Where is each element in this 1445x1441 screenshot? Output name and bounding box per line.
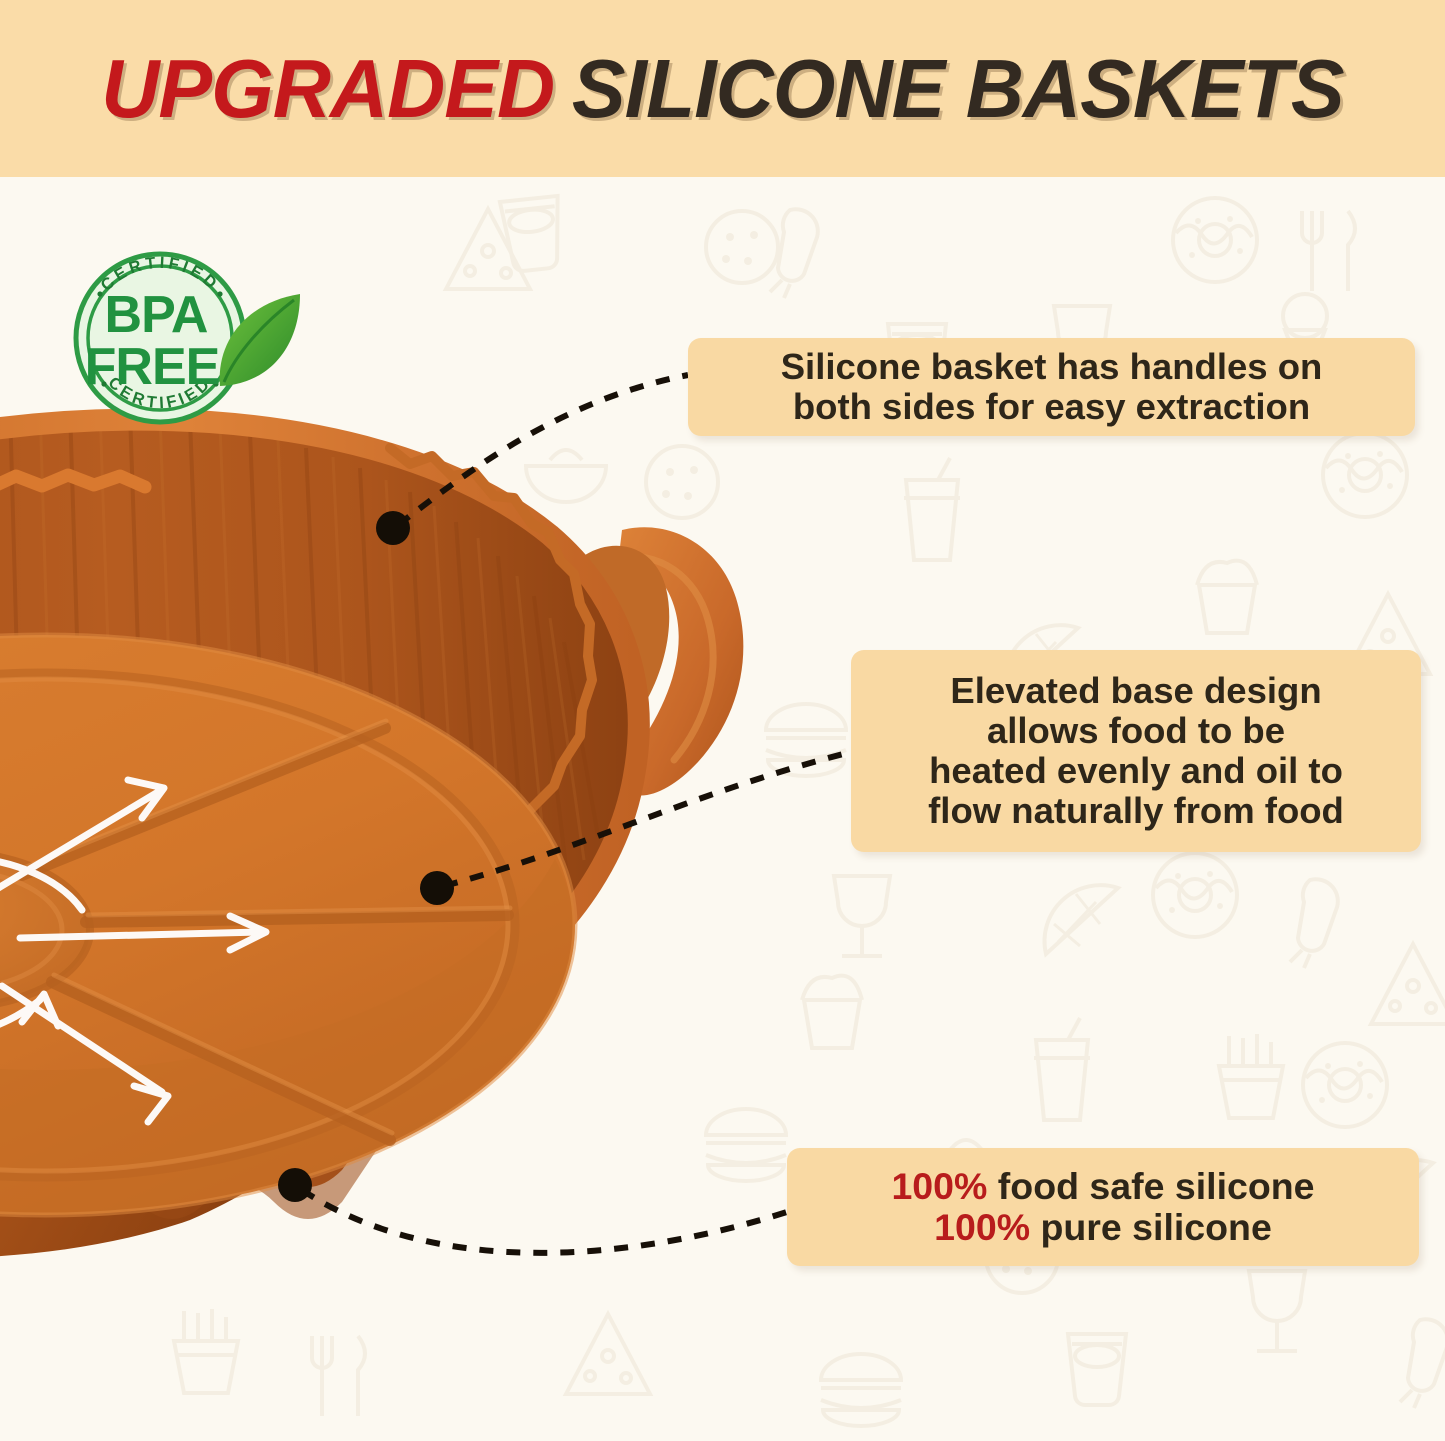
callout-food-safe-line-2: 100% pure silicone <box>891 1207 1314 1248</box>
callout-elevated-base-line-2: allows food to be <box>928 711 1344 751</box>
callout-elevated-base-line-1: Elevated base design <box>928 671 1344 711</box>
title-word-silicone-baskets: SILICONE BASKETS <box>572 42 1344 135</box>
infographic-canvas: CERTIFIED CERTIFIED BPA FREE UPGRADEDSIL… <box>0 0 1445 1441</box>
callout-food-safe-line-1: 100% food safe silicone <box>891 1166 1314 1207</box>
callout-elevated-base-line-3: heated evenly and oil to <box>928 751 1344 791</box>
callout-food-safe: 100% food safe silicone 100% pure silico… <box>787 1148 1419 1266</box>
badge-line-2: FREE <box>85 338 220 396</box>
food-safe-text-2: pure silicone <box>1030 1206 1272 1248</box>
title-word-upgraded: UPGRADED <box>101 42 554 135</box>
silicone-basket-illustration <box>0 350 860 1441</box>
callout-handles-line-2: both sides for easy extraction <box>781 387 1323 427</box>
badge-line-1: BPA <box>105 286 208 344</box>
callout-handles-line-1: Silicone basket has handles on <box>781 347 1323 387</box>
callout-elevated-base: Elevated base design allows food to be h… <box>851 650 1421 852</box>
callout-handles: Silicone basket has handles on both side… <box>688 338 1415 436</box>
page-title: UPGRADEDSILICONE BASKETS <box>101 41 1343 137</box>
header-banner: UPGRADEDSILICONE BASKETS <box>0 0 1445 177</box>
food-safe-percent-1: 100% <box>891 1165 987 1207</box>
food-safe-percent-2: 100% <box>934 1206 1030 1248</box>
food-safe-text-1: food safe silicone <box>987 1165 1314 1207</box>
callout-elevated-base-line-4: flow naturally from food <box>928 791 1344 831</box>
bpa-free-badge: CERTIFIED CERTIFIED BPA FREE <box>48 228 330 440</box>
